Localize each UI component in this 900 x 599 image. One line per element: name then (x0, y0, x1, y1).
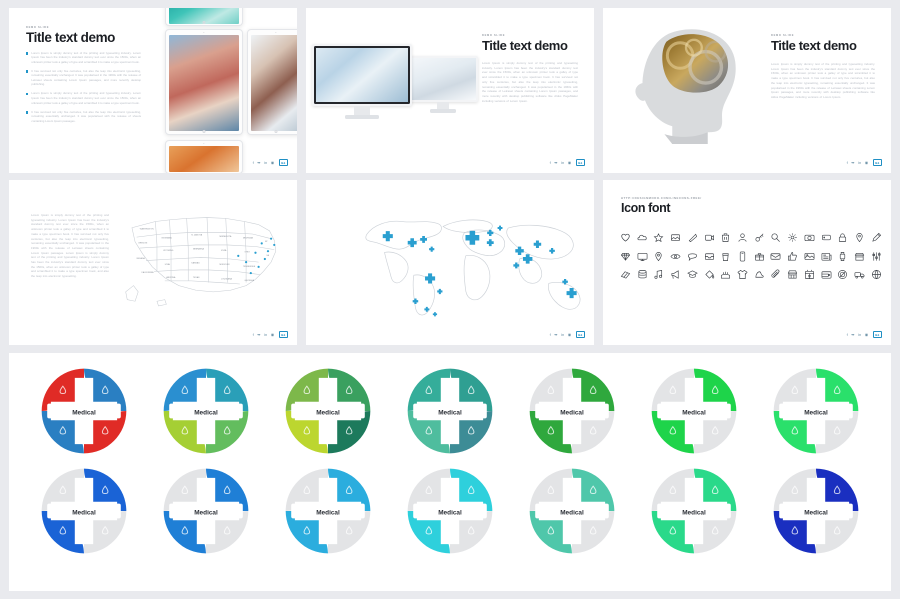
shop-icon[interactable] (854, 251, 865, 262)
truck-icon[interactable] (854, 269, 865, 280)
graduation-cap-icon[interactable] (687, 269, 698, 280)
logo-wordmark: Medical (560, 410, 584, 417)
logo-gray-cyan[interactable]: Medical (404, 465, 496, 557)
picture-icon[interactable] (804, 251, 815, 262)
bullet-list: Lorem Ipsum is simply dummy text of the … (26, 51, 141, 124)
social-links[interactable]: f ➥ in ◉ Bē (550, 331, 585, 338)
dribbble-icon[interactable]: ◉ (568, 333, 572, 337)
video-icon[interactable] (704, 232, 715, 243)
linkedin-icon[interactable]: in (561, 161, 564, 165)
speech-bubble-icon[interactable] (687, 251, 698, 262)
svg-text:OHIO: OHIO (245, 252, 251, 254)
svg-text:WYOMING: WYOMING (163, 250, 174, 252)
source-url-label: HTTP://DESIGNMODO.COM/LINECONS-FREE/ (621, 196, 702, 200)
svg-text:VA: VA (266, 254, 269, 257)
slide-tablets-text: DEMO SLIDE Title text demo Lorem Ipsum i… (26, 26, 141, 128)
lock-icon[interactable] (837, 232, 848, 243)
eyebrow-label: DEMO SLIDE (482, 34, 578, 37)
list-item-text: Lorem Ipsum is simply dummy text of the … (31, 51, 141, 65)
bullet-dot-icon (26, 52, 28, 54)
key-icon[interactable] (754, 232, 765, 243)
social-links[interactable]: f ➥ in ◉ Bē (847, 159, 882, 166)
svg-text:OREGON: OREGON (138, 242, 148, 244)
shoe-icon[interactable] (754, 269, 765, 280)
gift-icon[interactable] (754, 251, 765, 262)
trash-icon[interactable] (720, 232, 731, 243)
linkedin-icon[interactable]: in (858, 161, 861, 165)
slide-usa-map[interactable]: Lorem Ipsum is simply dummy text of the … (9, 180, 297, 345)
bullet-dot-icon (26, 93, 28, 95)
dribbble-icon[interactable]: ◉ (271, 333, 275, 337)
facebook-icon[interactable]: f (550, 161, 551, 165)
slide-grid: DEMO SLIDE Title text demo Lorem Ipsum i… (0, 0, 900, 345)
linkedin-icon[interactable]: in (561, 333, 564, 337)
list-item: Lorem Ipsum is simply dummy text of the … (26, 91, 141, 105)
svg-text:N. DAKOTA: N. DAKOTA (191, 234, 202, 237)
inbox-icon[interactable] (704, 251, 715, 262)
logo-wordmark: Medical (438, 410, 462, 417)
coffee-cup-icon[interactable] (720, 251, 731, 262)
twitter-icon[interactable]: ➥ (851, 161, 854, 165)
list-item-text: It has survived not only five centuries,… (31, 69, 141, 87)
logo-gray-lime[interactable]: Medical (648, 365, 740, 457)
social-links[interactable]: f ➥ in ◉ Bē (253, 159, 288, 166)
list-item: It has survived not only five centuries,… (26, 69, 141, 87)
tablet-device (165, 29, 243, 135)
twitter-icon[interactable]: ➥ (851, 333, 854, 337)
logo-red-blue[interactable]: Medical (38, 365, 130, 457)
logo-teal[interactable]: Medical (404, 365, 496, 457)
store-icon[interactable] (787, 269, 798, 280)
slide-monitors[interactable]: DEMO SLIDE Title text demo Lorem Ipsum i… (306, 8, 594, 173)
facebook-icon[interactable]: f (550, 333, 551, 337)
svg-text:ARIZONA: ARIZONA (166, 276, 176, 279)
logo-wordmark: Medical (560, 510, 584, 517)
dribbble-icon[interactable]: ◉ (865, 333, 869, 337)
logo-gray-navy[interactable]: Medical (770, 465, 862, 557)
svg-text:MONTANA: MONTANA (162, 237, 173, 240)
svg-text:MINNESOTA: MINNESOTA (220, 235, 232, 238)
music-icon[interactable] (653, 269, 664, 280)
facebook-icon[interactable]: f (847, 161, 848, 165)
logo-wordmark: Medical (682, 410, 706, 417)
logo-wordmark: Medical (72, 410, 96, 417)
front-camera-icon (203, 32, 204, 33)
logo-green-olive[interactable]: Medical (282, 365, 374, 457)
world-map-illustration (352, 202, 594, 324)
monitor-primary (312, 44, 412, 119)
search-icon[interactable] (770, 232, 781, 243)
star-icon[interactable] (653, 232, 664, 243)
logo-showcase-panel: MedicalMedicalMedicalMedicalMedicalMedic… (9, 353, 891, 591)
monitor-photo-doctor (410, 58, 476, 100)
database-icon[interactable] (637, 269, 648, 280)
map-markers (237, 238, 275, 275)
list-item: It has survived not only five centuries,… (26, 110, 141, 124)
stamp-icon[interactable] (837, 269, 848, 280)
logo-wordmark: Medical (194, 410, 218, 417)
logo-gray-emerald[interactable]: Medical (648, 465, 740, 557)
world-map-markers (383, 226, 577, 317)
logo-gray-green[interactable]: Medical (526, 365, 618, 457)
slide-monitors-text: DEMO SLIDE Title text demo Lorem Ipsum i… (482, 34, 578, 103)
svg-text:CALIFORNIA: CALIFORNIA (141, 271, 154, 274)
tablet-photo-clinic (169, 146, 239, 172)
twitter-icon[interactable]: ➥ (554, 333, 557, 337)
wallet-icon[interactable] (821, 269, 832, 280)
tablet-device (247, 29, 297, 135)
social-links[interactable]: f ➥ in ◉ Bē (550, 159, 585, 166)
logo-wordmark: Medical (804, 510, 828, 517)
logo-wordmark: Medical (72, 510, 96, 517)
slide-tablets[interactable]: DEMO SLIDE Title text demo Lorem Ipsum i… (9, 8, 297, 173)
usa-map-illustration: WASHINGTONOREGON NEVADACALIFORNIA MONTAN… (121, 204, 293, 314)
logo-gray-blue[interactable]: Medical (38, 465, 130, 557)
tablet-mockup-group (153, 8, 297, 173)
camera-icon[interactable] (804, 232, 815, 243)
svg-text:GEORGIA: GEORGIA (245, 279, 255, 282)
icon-row (620, 232, 882, 243)
logo-grid: MedicalMedicalMedicalMedicalMedicalMedic… (9, 365, 891, 557)
home-button-icon (203, 21, 206, 24)
behance-icon[interactable]: Bē (576, 331, 585, 338)
eraser-icon[interactable] (620, 269, 631, 280)
megaphone-icon[interactable] (670, 269, 681, 280)
home-button-icon (203, 130, 206, 133)
logo-gray-seafoam[interactable]: Medical (526, 465, 618, 557)
logo-blue-green[interactable]: Medical (160, 365, 252, 457)
linkedin-icon[interactable]: in (264, 333, 267, 337)
body-text: Lorem Ipsum is simply dummy text of the … (771, 62, 875, 100)
logo-wordmark: Medical (194, 510, 218, 517)
sliders-icon[interactable] (871, 251, 882, 262)
list-item-text: Lorem Ipsum is simply dummy text of the … (31, 91, 141, 105)
behance-icon[interactable]: Bē (279, 159, 288, 166)
monitor-stand (437, 102, 449, 109)
monitor-secondary (408, 56, 478, 113)
head-silhouette-illustration (629, 24, 747, 146)
icon-font-grid (620, 232, 882, 288)
home-button-icon (275, 130, 278, 133)
list-item: Lorem Ipsum is simply dummy text of the … (26, 51, 141, 65)
monitor-icon[interactable] (637, 251, 648, 262)
thumbs-up-icon[interactable] (787, 251, 798, 262)
svg-text:KANSAS: KANSAS (191, 262, 200, 265)
slide-icon-font-header: HTTP://DESIGNMODO.COM/LINECONS-FREE/ Ico… (621, 196, 702, 216)
logo-wordmark: Medical (316, 510, 340, 517)
envelope-icon[interactable] (770, 251, 781, 262)
eyebrow-label: DEMO SLIDE (26, 26, 141, 29)
map-marker-icon[interactable] (653, 251, 664, 262)
icon-row (620, 251, 882, 262)
svg-text:LOUISIANA: LOUISIANA (221, 277, 232, 280)
tablet-photo-dental (169, 35, 239, 131)
bullet-dot-icon (26, 111, 28, 113)
tablet-photo-stethoscope (251, 35, 297, 131)
page-title: Title text demo (482, 39, 578, 53)
page-title: Title text demo (771, 39, 875, 53)
facebook-icon[interactable]: f (253, 161, 254, 165)
behance-icon[interactable]: Bē (873, 159, 882, 166)
pin-icon[interactable] (854, 232, 865, 243)
body-text: Lorem Ipsum is simply dummy text of the … (482, 61, 578, 103)
svg-text:UTAH: UTAH (165, 263, 171, 266)
slide-world-map[interactable]: TOTAL 357 Lorem Ipsum is simply dummy te… (306, 180, 594, 345)
pen-tool-icon[interactable] (687, 232, 698, 243)
monitor-base (430, 109, 456, 113)
slide-icon-font[interactable]: HTTP://DESIGNMODO.COM/LINECONS-FREE/ Ico… (603, 180, 891, 345)
svg-text:NY: NY (265, 241, 268, 243)
paperclip-icon[interactable] (770, 269, 781, 280)
logo-wordmark: Medical (682, 510, 706, 517)
logo-wordmark: Medical (438, 510, 462, 517)
pencil-icon[interactable] (871, 232, 882, 243)
dribbble-icon[interactable]: ◉ (865, 161, 869, 165)
list-item-text: It has survived not only five centuries,… (31, 110, 141, 124)
bullet-dot-icon (26, 70, 28, 72)
svg-text:IOWA: IOWA (221, 249, 227, 252)
image-icon[interactable] (670, 232, 681, 243)
globe-icon[interactable] (871, 269, 882, 280)
logo-gray-sky[interactable]: Medical (282, 465, 374, 557)
social-links[interactable]: f ➥ in ◉ Bē (847, 331, 882, 338)
behance-icon[interactable]: Bē (873, 331, 882, 338)
diamond-icon[interactable] (620, 251, 631, 262)
cloud-icon[interactable] (637, 232, 648, 243)
page-title: Icon font (621, 202, 702, 216)
twitter-icon[interactable]: ➥ (554, 161, 557, 165)
dribbble-icon[interactable]: ◉ (568, 161, 572, 165)
monitor-photo-magnifier (316, 48, 408, 102)
social-links[interactable]: f ➥ in ◉ Bē (253, 331, 288, 338)
eyebrow-label: DEMO SLIDE (771, 34, 875, 37)
icon-row (620, 269, 882, 280)
watch-icon[interactable] (837, 251, 848, 262)
paint-bucket-icon[interactable] (704, 269, 715, 280)
heart-icon[interactable] (620, 232, 631, 243)
logo-gray-mint[interactable]: Medical (770, 365, 862, 457)
calendar-icon[interactable] (804, 269, 815, 280)
behance-icon[interactable]: Bē (279, 331, 288, 338)
logo-wordmark: Medical (316, 410, 340, 417)
tag-icon[interactable] (821, 232, 832, 243)
svg-text:NEBRASKA: NEBRASKA (193, 248, 205, 251)
user-icon[interactable] (737, 232, 748, 243)
twitter-icon[interactable]: ➥ (257, 161, 260, 165)
phone-icon[interactable] (737, 251, 748, 262)
facebook-icon[interactable]: f (847, 333, 848, 337)
shirt-icon[interactable] (737, 269, 748, 280)
monitor-stand (354, 106, 370, 115)
linkedin-icon[interactable]: in (858, 333, 861, 337)
front-camera-icon (203, 143, 204, 144)
front-camera-icon (275, 32, 276, 33)
news-icon[interactable] (821, 251, 832, 262)
svg-text:MICHIGAN: MICHIGAN (243, 237, 254, 240)
logo-wordmark: Medical (804, 410, 828, 417)
facebook-icon[interactable]: f (253, 333, 254, 337)
slide-brain[interactable]: DEMO SLIDE Title text demo Lorem Ipsum i… (603, 8, 891, 173)
body-text: Lorem Ipsum is simply dummy text of the … (31, 213, 109, 279)
slide-brain-text: DEMO SLIDE Title text demo Lorem Ipsum i… (771, 34, 875, 100)
tablet-device (165, 140, 243, 173)
twitter-icon[interactable]: ➥ (257, 333, 260, 337)
svg-text:TENNESSEE: TENNESSEE (243, 266, 256, 268)
eye-icon[interactable] (670, 251, 681, 262)
behance-icon[interactable]: Bē (576, 159, 585, 166)
svg-text:NEVADA: NEVADA (137, 257, 146, 260)
logo-gray-azure[interactable]: Medical (160, 465, 252, 557)
monitor-base (345, 115, 379, 119)
svg-text:TEXAS: TEXAS (193, 276, 200, 279)
cake-icon[interactable] (720, 269, 731, 280)
dribbble-icon[interactable]: ◉ (271, 161, 275, 165)
page-title: Title text demo (26, 31, 141, 46)
tablet-device (165, 8, 243, 26)
svg-text:WASHINGTON: WASHINGTON (140, 227, 154, 230)
svg-text:MISSOURI: MISSOURI (220, 264, 230, 266)
gear-icon[interactable] (787, 232, 798, 243)
linkedin-icon[interactable]: in (264, 161, 267, 165)
